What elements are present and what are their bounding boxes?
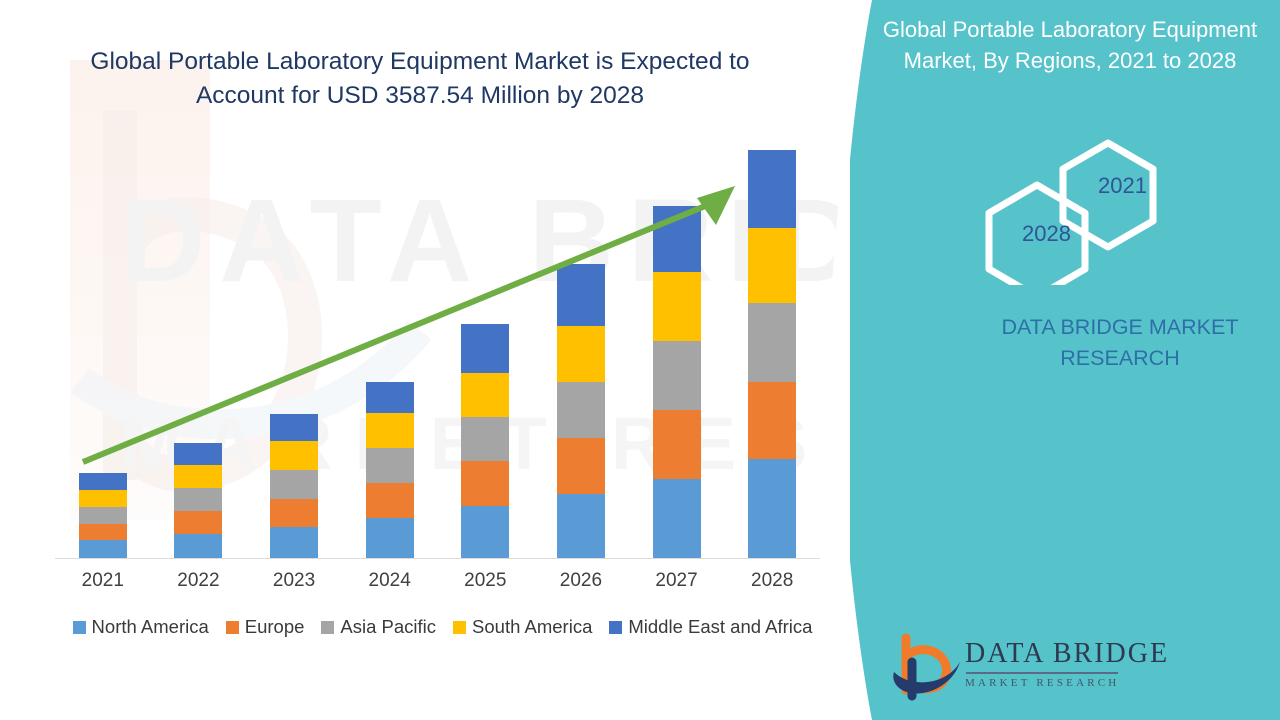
logo-wordmark: DATA BRIDGE MARKET RESEARCH [965, 638, 1169, 689]
logo-sub-text: MARKET RESEARCH [965, 677, 1169, 689]
logo-main-text: DATA BRIDGE [965, 638, 1169, 670]
legend-item[interactable]: Asia Pacific [321, 616, 436, 638]
x-axis-label-2023: 2023 [247, 570, 342, 592]
legend-label: South America [472, 616, 592, 638]
data-bridge-logo-icon [890, 632, 970, 702]
x-axis-label-2025: 2025 [438, 570, 533, 592]
brand-panel-title: Global Portable Laboratory Equipment Mar… [860, 14, 1280, 76]
chart-legend: North AmericaEuropeAsia PacificSouth Ame… [55, 616, 830, 638]
x-axis-label-2028: 2028 [725, 570, 820, 592]
legend-item[interactable]: Middle East and Africa [609, 616, 812, 638]
legend-item[interactable]: North America [73, 616, 209, 638]
growth-arrow-icon [55, 150, 830, 560]
x-axis-label-2024: 2024 [342, 570, 437, 592]
legend-label: North America [92, 616, 209, 638]
legend-label: Europe [245, 616, 305, 638]
logo-divider [966, 672, 1118, 674]
chart-title: Global Portable Laboratory Equipment Mar… [60, 45, 780, 113]
legend-swatch-icon [226, 621, 239, 634]
x-axis-label-2021: 2021 [55, 570, 150, 592]
year-hexagons [975, 135, 1175, 285]
x-axis-label-2027: 2027 [629, 570, 724, 592]
hexagon-label-2021: 2021 [1098, 173, 1147, 199]
legend-item[interactable]: Europe [226, 616, 305, 638]
x-axis-labels: 20212022202320242025202620272028 [55, 570, 820, 592]
legend-swatch-icon [609, 621, 622, 634]
legend-label: Asia Pacific [340, 616, 436, 638]
legend-swatch-icon [453, 621, 466, 634]
legend-swatch-icon [73, 621, 86, 634]
legend-item[interactable]: South America [453, 616, 592, 638]
infographic-root: DATA BRIDGE MARKET RESEARCH Global Porta… [0, 0, 1280, 720]
hexagon-label-2028: 2028 [1022, 221, 1071, 247]
legend-swatch-icon [321, 621, 334, 634]
x-axis-label-2026: 2026 [533, 570, 628, 592]
x-axis-label-2022: 2022 [151, 570, 246, 592]
chart-panel: Global Portable Laboratory Equipment Mar… [0, 0, 900, 720]
brand-name: DATA BRIDGE MARKET RESEARCH [960, 312, 1280, 373]
legend-label: Middle East and Africa [628, 616, 812, 638]
